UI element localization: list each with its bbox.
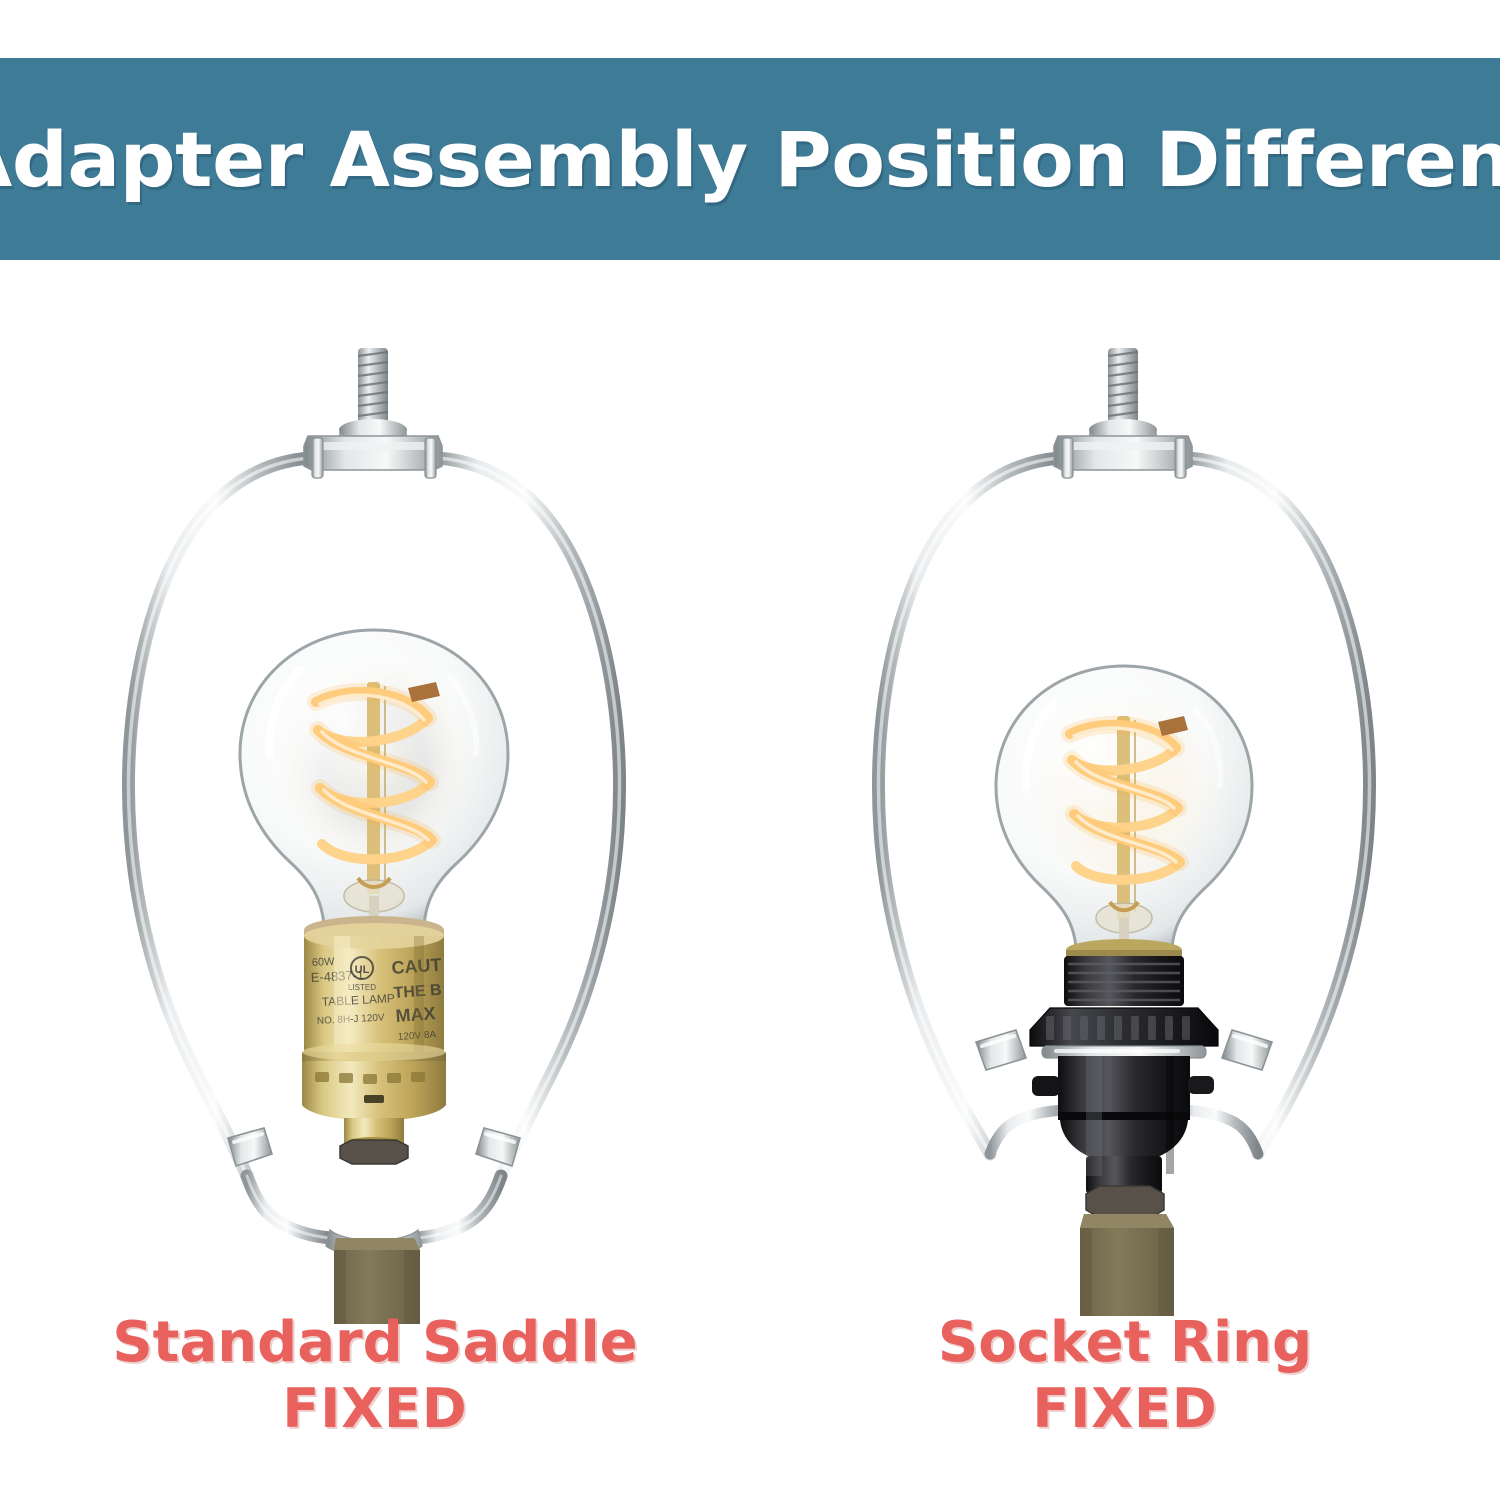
lamp-harp-icon: 60W E-4837-1 TABLE LAMP NO. 8H-J 120V CA… xyxy=(0,330,750,1330)
light-bulb-icon xyxy=(996,666,1252,948)
infographic-page: Adapter Assembly Position Different xyxy=(0,0,1500,1500)
panel-standard-saddle: 60W E-4837-1 TABLE LAMP NO. 8H-J 120V CA… xyxy=(0,300,750,1500)
lamp-harp-icon xyxy=(750,330,1500,1330)
lamp-socket-icon xyxy=(1030,939,1218,1218)
harp-leg-sleeve-right xyxy=(1222,1030,1272,1070)
harp-leg-sleeve-left xyxy=(976,1030,1026,1070)
caption-standard-saddle: Standard Saddle FIXED xyxy=(0,1312,750,1439)
caption-socket-ring: Socket Ring FIXED xyxy=(750,1312,1500,1439)
light-bulb-icon xyxy=(240,630,508,926)
threaded-stud-icon xyxy=(304,348,442,478)
page-title: Adapter Assembly Position Different xyxy=(0,115,1500,204)
lamp-illustration-standard-saddle: 60W E-4837-1 TABLE LAMP NO. 8H-J 120V CA… xyxy=(0,330,750,1330)
lamp-socket-icon: 60W E-4837-1 TABLE LAMP NO. 8H-J 120V CA… xyxy=(302,916,446,1164)
panel-socket-ring: Socket Ring FIXED xyxy=(750,300,1500,1500)
svg-text:60W: 60W xyxy=(312,956,336,969)
caption-state-socket-ring: FIXED xyxy=(750,1379,1500,1439)
harp-leg-sleeve-left xyxy=(228,1128,272,1166)
threaded-stud-icon xyxy=(1054,348,1192,478)
caption-name-standard-saddle: Standard Saddle xyxy=(0,1312,750,1375)
caption-state-standard-saddle: FIXED xyxy=(0,1379,750,1439)
lamp-base-block-icon xyxy=(1080,1214,1174,1316)
svg-text:UL: UL xyxy=(355,964,370,976)
caption-name-socket-ring: Socket Ring xyxy=(750,1312,1500,1375)
lamp-illustration-socket-ring xyxy=(750,330,1500,1330)
svg-text:LISTED: LISTED xyxy=(348,983,376,992)
harp-leg-sleeve-right xyxy=(476,1128,520,1166)
header-banner: Adapter Assembly Position Different xyxy=(0,58,1500,260)
